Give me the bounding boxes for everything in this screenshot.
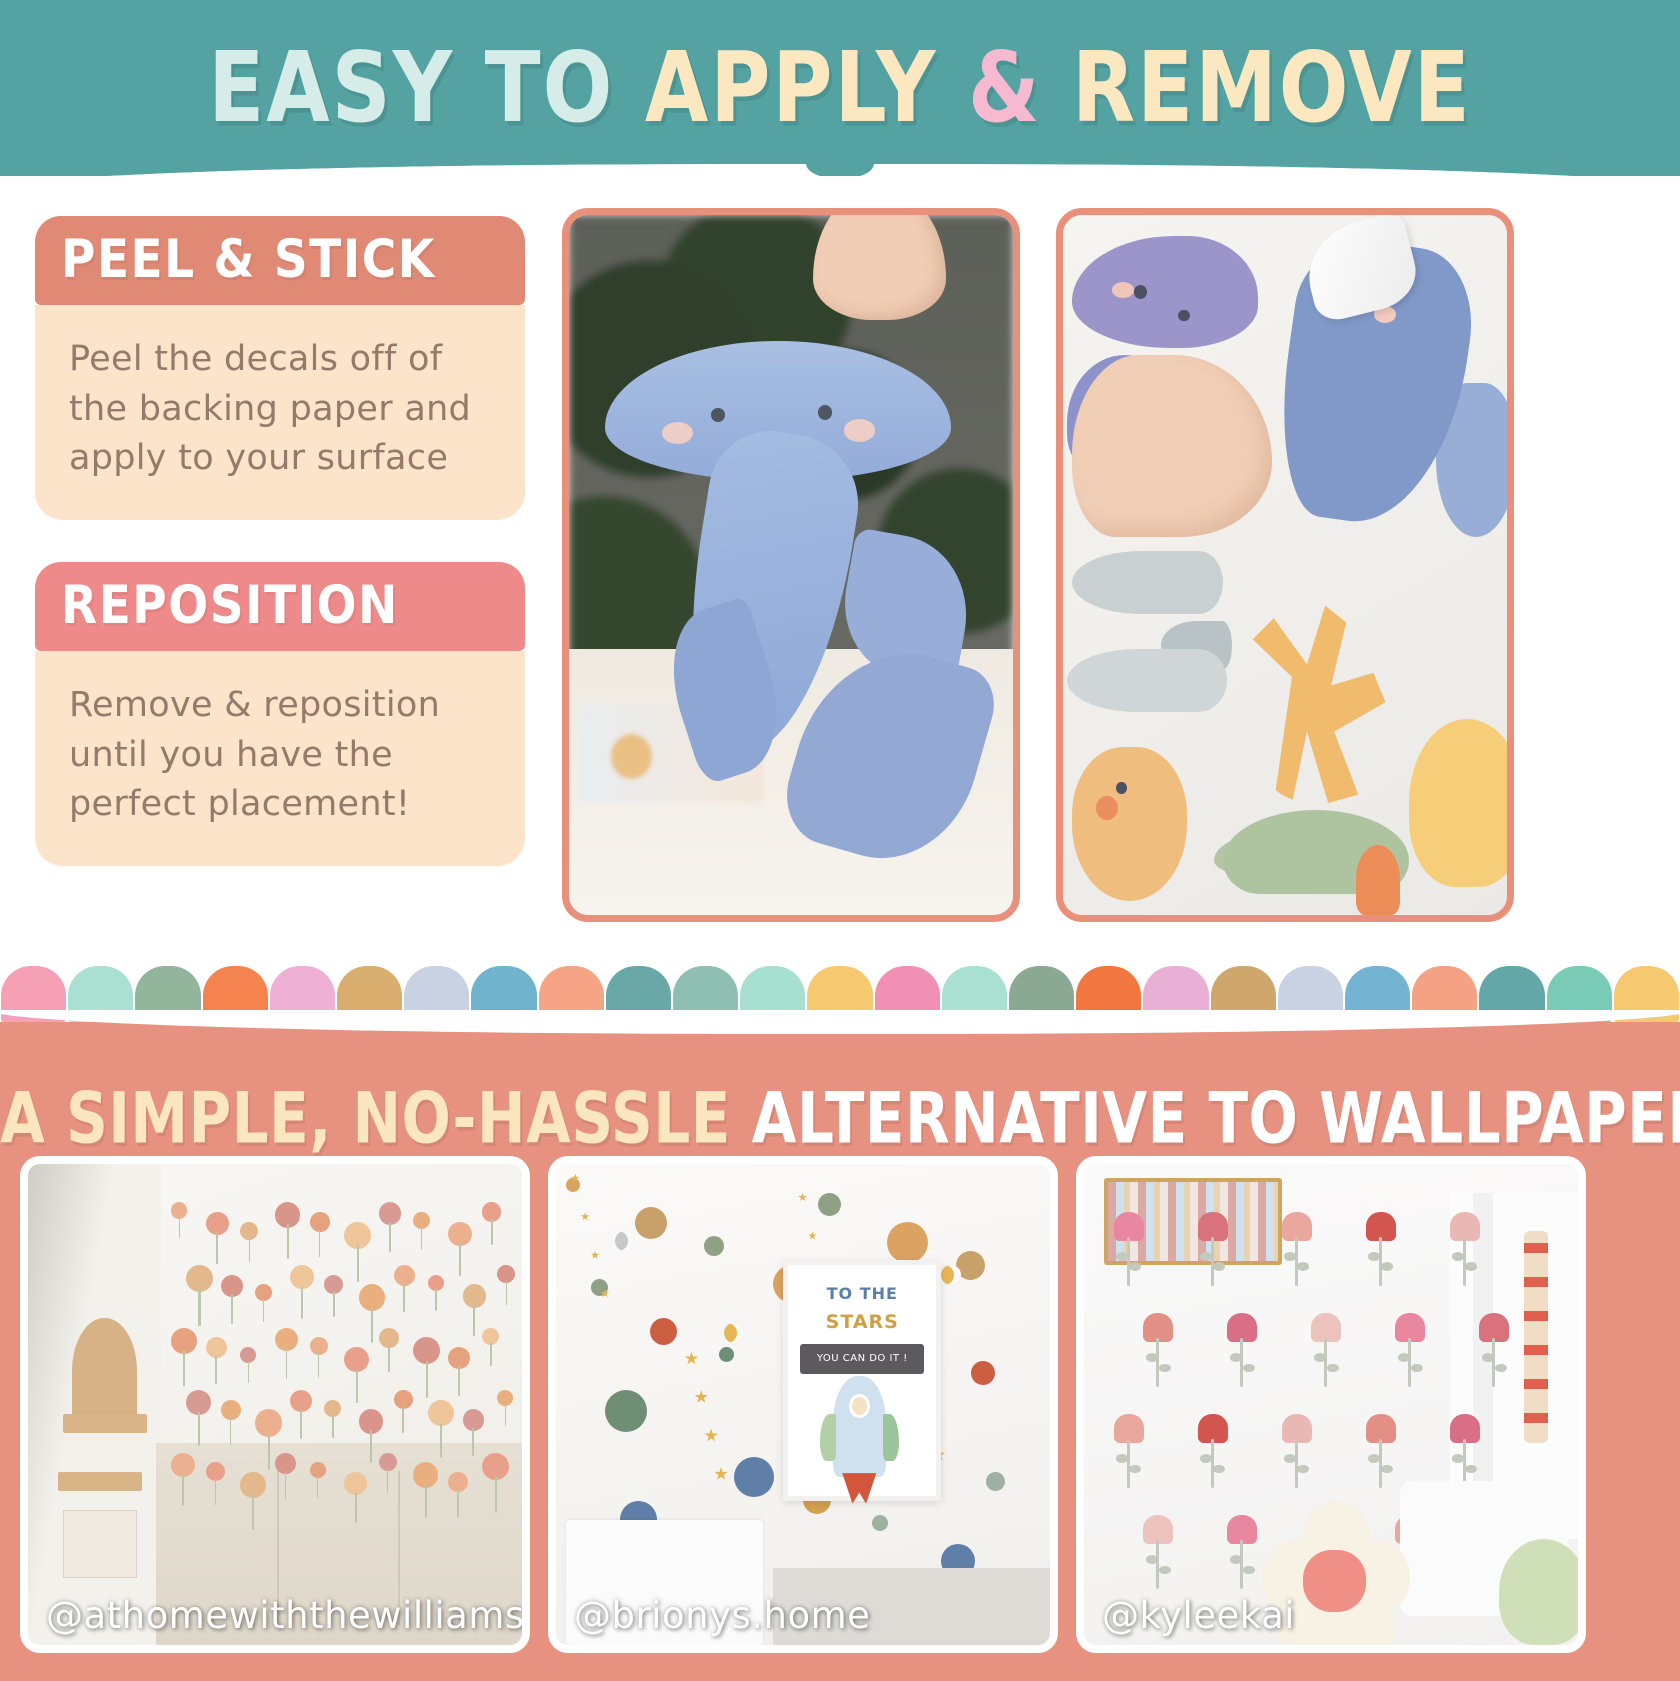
card-reposition-title: REPOSITION xyxy=(61,575,399,637)
flower-stem xyxy=(435,1289,436,1311)
rocket-window xyxy=(849,1394,870,1418)
rocket-wing-right xyxy=(883,1414,899,1461)
card-peel-and-stick: PEEL & STICK Peel the decals off of the … xyxy=(35,216,525,520)
tulip-stem xyxy=(1463,1439,1466,1488)
flower-decal xyxy=(394,1265,415,1311)
flower-stem xyxy=(319,1230,321,1257)
tulip-leaf xyxy=(1495,1364,1507,1373)
flower-stem xyxy=(268,1433,270,1470)
tulip-leaf xyxy=(1116,1454,1128,1463)
tulip-decal xyxy=(1311,1313,1341,1385)
flower-stem xyxy=(287,1224,289,1258)
flower-decal xyxy=(379,1453,397,1493)
flower-decal xyxy=(171,1453,195,1506)
flower-decal xyxy=(394,1390,413,1432)
tulip-decal xyxy=(1450,1212,1480,1284)
flower-stem xyxy=(198,1412,200,1446)
flower-stem xyxy=(495,1476,497,1513)
gallery-card-pink-floral-crib[interactable]: @kyleekai xyxy=(1076,1156,1586,1653)
tulip-decal xyxy=(1366,1414,1396,1486)
tulip-leaf xyxy=(1368,1454,1380,1463)
flower-decal xyxy=(275,1328,298,1379)
tulip-leaf xyxy=(1452,1454,1464,1463)
flower-stem xyxy=(179,1217,180,1239)
thumbnail xyxy=(890,208,899,210)
poster-ribbon: YOU CAN DO IT ! xyxy=(800,1344,924,1374)
tulip-leaf xyxy=(1411,1364,1423,1373)
flower-decal xyxy=(482,1453,509,1512)
tulip-leaf xyxy=(1482,1353,1494,1362)
poster-line-1: TO THE xyxy=(788,1284,936,1303)
pufferfish-decal xyxy=(1072,747,1187,901)
flower-stem xyxy=(440,1423,442,1458)
flower-stem xyxy=(459,1243,461,1276)
flower-stem xyxy=(230,1417,232,1444)
flower-decal xyxy=(428,1275,444,1310)
gallery-card-space-nursery[interactable]: TO THE STARS YOU CAN DO IT ! @brionys.ho… xyxy=(548,1156,1058,1653)
tulip-stem xyxy=(1295,1237,1298,1286)
page-title: EASY TO APPLY & REMOVE xyxy=(208,32,1472,144)
flower-decal xyxy=(240,1347,256,1382)
demo-photo-apply xyxy=(1056,208,1514,922)
tulip-leaf xyxy=(1200,1252,1212,1261)
tulip-decal xyxy=(1198,1212,1228,1284)
flower-decal xyxy=(344,1222,371,1281)
flower-stem xyxy=(286,1348,288,1379)
flower-stem xyxy=(421,1227,422,1250)
flower-stem xyxy=(371,1307,373,1342)
flower-stem xyxy=(357,1245,359,1282)
rocket-illustration xyxy=(833,1376,886,1477)
tulip-leaf xyxy=(1159,1364,1171,1373)
flower-stem xyxy=(252,1495,254,1530)
flower-stem xyxy=(263,1299,264,1322)
flower-stem xyxy=(333,1291,335,1317)
tulip-stem xyxy=(1127,1439,1130,1488)
flower-decal xyxy=(206,1462,225,1504)
flower-stem xyxy=(425,1484,427,1518)
tulip-leaf xyxy=(1381,1262,1393,1271)
daisy-center xyxy=(1303,1550,1365,1612)
flower-stem xyxy=(506,1281,507,1306)
tulip-leaf xyxy=(1368,1252,1380,1261)
flower-stem xyxy=(285,1471,287,1500)
flower-stem xyxy=(318,1353,319,1378)
purple-whale-cheek xyxy=(1112,282,1134,297)
flower-stem xyxy=(216,1232,218,1263)
flower-stem xyxy=(249,1238,250,1263)
tulip-leaf xyxy=(1146,1353,1158,1362)
tulip-stem xyxy=(1379,1439,1382,1488)
instructions-section: PEEL & STICK Peel the decals off of the … xyxy=(0,176,1680,958)
card-reposition-body: Remove & reposition until you have the p… xyxy=(35,651,525,866)
flower-decal xyxy=(310,1462,326,1497)
flower-stem xyxy=(403,1283,405,1312)
flower-stem xyxy=(183,1350,185,1385)
flower-decal xyxy=(448,1222,472,1275)
gallery-title-rest: ALTERNATIVE TO WALLPAPER xyxy=(752,1077,1680,1160)
flower-stem xyxy=(300,1409,302,1439)
poster-line-2: STARS xyxy=(788,1311,936,1333)
tulip-decal xyxy=(1450,1414,1480,1486)
flower-decal xyxy=(240,1222,258,1262)
flower-decal xyxy=(463,1409,484,1455)
tulip-stem xyxy=(1156,1338,1159,1387)
tulip-stem xyxy=(1492,1338,1495,1387)
tulip-decal xyxy=(1227,1515,1257,1587)
flower-decal xyxy=(275,1202,300,1257)
plush-toy xyxy=(1499,1539,1586,1645)
rocket-poster: TO THE STARS YOU CAN DO IT ! xyxy=(783,1260,941,1501)
flower-decal xyxy=(206,1212,229,1263)
tulip-decal xyxy=(1143,1515,1173,1587)
tulip-leaf xyxy=(1159,1566,1171,1575)
gallery-section-title: A SIMPLE, NO-HASSLE ALTERNATIVE TO WALLP… xyxy=(0,1077,1680,1160)
flower-decal xyxy=(497,1265,515,1305)
flower-stem xyxy=(215,1479,217,1505)
gray-fish-decal-1 xyxy=(1072,551,1223,614)
flower-stem xyxy=(370,1430,372,1463)
flower-decal xyxy=(497,1390,513,1425)
flower-stem xyxy=(491,1219,493,1245)
flower-stem xyxy=(387,1468,388,1493)
tulip-leaf xyxy=(1465,1465,1477,1474)
flower-stem xyxy=(457,1489,459,1516)
tulip-leaf xyxy=(1116,1252,1128,1261)
tulip-leaf xyxy=(1297,1262,1309,1271)
tulip-leaf xyxy=(1381,1465,1393,1474)
gray-fish-decal-3 xyxy=(1067,649,1227,712)
orange-squid-decal xyxy=(1356,845,1400,915)
tulip-decal xyxy=(1143,1313,1173,1385)
tulip-stem xyxy=(1295,1439,1298,1488)
card-peel-and-stick-body: Peel the decals off of the backing paper… xyxy=(35,305,525,520)
flower-stem xyxy=(426,1361,428,1398)
flower-decal xyxy=(186,1390,211,1445)
flower-decal xyxy=(379,1202,401,1250)
tulip-stem xyxy=(1211,1439,1214,1488)
tulip-leaf xyxy=(1129,1465,1141,1474)
tulip-stem xyxy=(1156,1540,1159,1589)
tulip-leaf xyxy=(1213,1262,1225,1271)
gallery-section: A SIMPLE, NO-HASSLE ALTERNATIVE TO WALLP… xyxy=(0,1022,1680,1681)
hero-title-part-2: APPLY xyxy=(645,32,938,144)
flower-decal xyxy=(290,1265,314,1318)
flower-decal xyxy=(324,1400,341,1437)
customer-photo-gallery: @athomewiththewilliams TO THE STARS YOU … xyxy=(20,1156,1586,1653)
hammerhead-cheek-right xyxy=(844,419,875,441)
card-peel-and-stick-header: PEEL & STICK xyxy=(35,216,525,305)
flower-decal xyxy=(255,1284,272,1321)
flower-stem xyxy=(402,1407,404,1433)
flower-stem xyxy=(490,1342,491,1365)
flower-stem xyxy=(505,1404,506,1426)
tulip-decal xyxy=(1479,1313,1509,1385)
tulip-leaf xyxy=(1129,1262,1141,1271)
flower-decal xyxy=(206,1337,227,1383)
card-reposition: REPOSITION Remove & reposition until you… xyxy=(35,562,525,866)
flower-decal xyxy=(428,1400,454,1457)
rocket-wing-left xyxy=(820,1414,836,1461)
tulip-decal xyxy=(1366,1212,1396,1284)
tulip-leaf xyxy=(1243,1364,1255,1373)
flower-decal xyxy=(413,1337,440,1396)
tulip-leaf xyxy=(1398,1353,1410,1362)
demo-photo-peel xyxy=(562,208,1020,922)
wildflower-banner xyxy=(63,1510,137,1577)
flower-decal xyxy=(221,1400,241,1444)
planet-decal xyxy=(818,1193,841,1216)
flower-stem xyxy=(388,1345,390,1372)
tulip-leaf xyxy=(1243,1566,1255,1575)
tulip-decal xyxy=(1395,1313,1425,1385)
gallery-handle-1[interactable]: @athomewiththewilliams xyxy=(46,1594,525,1637)
tulip-stem xyxy=(1240,1540,1243,1589)
moon-decal xyxy=(724,1323,744,1343)
yellow-shell-decal xyxy=(1409,719,1514,887)
tulip-stem xyxy=(1211,1237,1214,1286)
card-peel-and-stick-text: Peel the decals off of the backing paper… xyxy=(69,335,491,484)
flower-decal xyxy=(310,1212,330,1256)
flower-stem xyxy=(215,1356,217,1385)
flower-stem xyxy=(356,1369,358,1403)
flower-decal xyxy=(290,1390,312,1438)
tulip-decal xyxy=(1282,1212,1312,1284)
card-peel-and-stick-title: PEEL & STICK xyxy=(61,229,436,291)
tulip-leaf xyxy=(1327,1364,1339,1373)
gallery-handle-2[interactable]: @brionys.home xyxy=(574,1594,870,1637)
flower-decal xyxy=(171,1328,197,1385)
flower-decal xyxy=(221,1275,243,1323)
tulip-leaf xyxy=(1146,1555,1158,1564)
flower-stem xyxy=(472,1428,474,1457)
tulip-leaf xyxy=(1230,1555,1242,1564)
flower-decal xyxy=(482,1328,499,1365)
poster-ribbon-text: YOU CAN DO IT ! xyxy=(817,1353,908,1364)
gallery-handle-3[interactable]: @kyleekai xyxy=(1102,1594,1295,1637)
tulip-decal xyxy=(1227,1313,1257,1385)
hand-holding-decal xyxy=(813,208,946,320)
flower-decal xyxy=(413,1212,430,1249)
flower-stem xyxy=(332,1415,333,1438)
tulip-decal xyxy=(1282,1414,1312,1486)
tulip-leaf xyxy=(1284,1454,1296,1463)
tulip-decal xyxy=(1114,1414,1144,1486)
tulip-stem xyxy=(1408,1338,1411,1387)
hero-title-part-4: REMOVE xyxy=(1072,32,1472,144)
instruction-cards: PEEL & STICK Peel the decals off of the … xyxy=(35,216,525,908)
planet-decal xyxy=(650,1318,677,1345)
flower-decal xyxy=(324,1275,343,1317)
tulip-decal xyxy=(1114,1212,1144,1284)
flower-stem xyxy=(317,1476,318,1498)
tulip-leaf xyxy=(1200,1454,1212,1463)
gallery-title-highlight: A SIMPLE, NO-HASSLE xyxy=(0,1077,731,1160)
tulip-stem xyxy=(1379,1237,1382,1286)
flower-stem xyxy=(389,1222,391,1252)
hero-title-part-1: EASY TO xyxy=(208,32,614,144)
planet-decal xyxy=(734,1457,774,1497)
flower-decal xyxy=(344,1347,369,1402)
flower-stem xyxy=(473,1304,475,1335)
hero-header: EASY TO APPLY & REMOVE xyxy=(0,0,1680,176)
flower-stem xyxy=(198,1289,200,1326)
tulip-leaf xyxy=(1297,1465,1309,1474)
tulip-stem xyxy=(1463,1237,1466,1286)
wooden-shelf-bottom xyxy=(58,1472,142,1491)
flower-stem xyxy=(355,1492,357,1523)
tulip-leaf xyxy=(1452,1252,1464,1261)
flower-decal xyxy=(448,1347,470,1395)
flower-decal xyxy=(310,1337,328,1377)
flower-decal xyxy=(482,1202,501,1244)
tulip-leaf xyxy=(1314,1353,1326,1362)
planet-decal xyxy=(971,1361,995,1385)
flower-stem xyxy=(182,1474,184,1507)
flower-decal xyxy=(344,1472,367,1523)
wooden-arch-sign xyxy=(72,1318,136,1424)
bead-garland xyxy=(1524,1231,1549,1443)
tulip-leaf xyxy=(1284,1252,1296,1261)
pufferfish-eye xyxy=(1116,782,1127,794)
tulip-stem xyxy=(1324,1338,1327,1387)
planet-decal xyxy=(719,1347,734,1362)
flower-stem xyxy=(231,1294,233,1324)
flower-decal xyxy=(186,1265,213,1324)
hammerhead-cheek-left xyxy=(662,422,693,444)
tulip-leaf xyxy=(1465,1262,1477,1271)
tulip-stem xyxy=(1240,1338,1243,1387)
poster-root: EASY TO APPLY & REMOVE PEEL & STICK Peel… xyxy=(0,0,1680,1681)
tulip-decal xyxy=(1198,1414,1228,1486)
gallery-card-floral-nursery[interactable]: @athomewiththewilliams xyxy=(20,1156,530,1653)
hammerhead-eye-right xyxy=(818,405,832,420)
planet-decal xyxy=(887,1222,928,1263)
flower-decal xyxy=(448,1472,468,1516)
flower-decal xyxy=(240,1472,266,1529)
flower-decal xyxy=(413,1462,438,1517)
flower-decal xyxy=(379,1328,399,1372)
tulip-leaf xyxy=(1230,1353,1242,1362)
planet-decal xyxy=(986,1472,1005,1491)
card-reposition-header: REPOSITION xyxy=(35,562,525,651)
flower-decal xyxy=(171,1202,187,1237)
flower-stem xyxy=(301,1286,303,1319)
flower-decal xyxy=(275,1453,296,1499)
flower-stem xyxy=(458,1366,460,1396)
card-reposition-text: Remove & reposition until you have the p… xyxy=(69,681,491,830)
tulip-stem xyxy=(1127,1237,1130,1286)
wooden-shelf-top xyxy=(63,1414,147,1433)
flower-stem xyxy=(248,1361,249,1383)
hero-title-part-3: & xyxy=(968,32,1042,144)
tulip-leaf xyxy=(1213,1465,1225,1474)
